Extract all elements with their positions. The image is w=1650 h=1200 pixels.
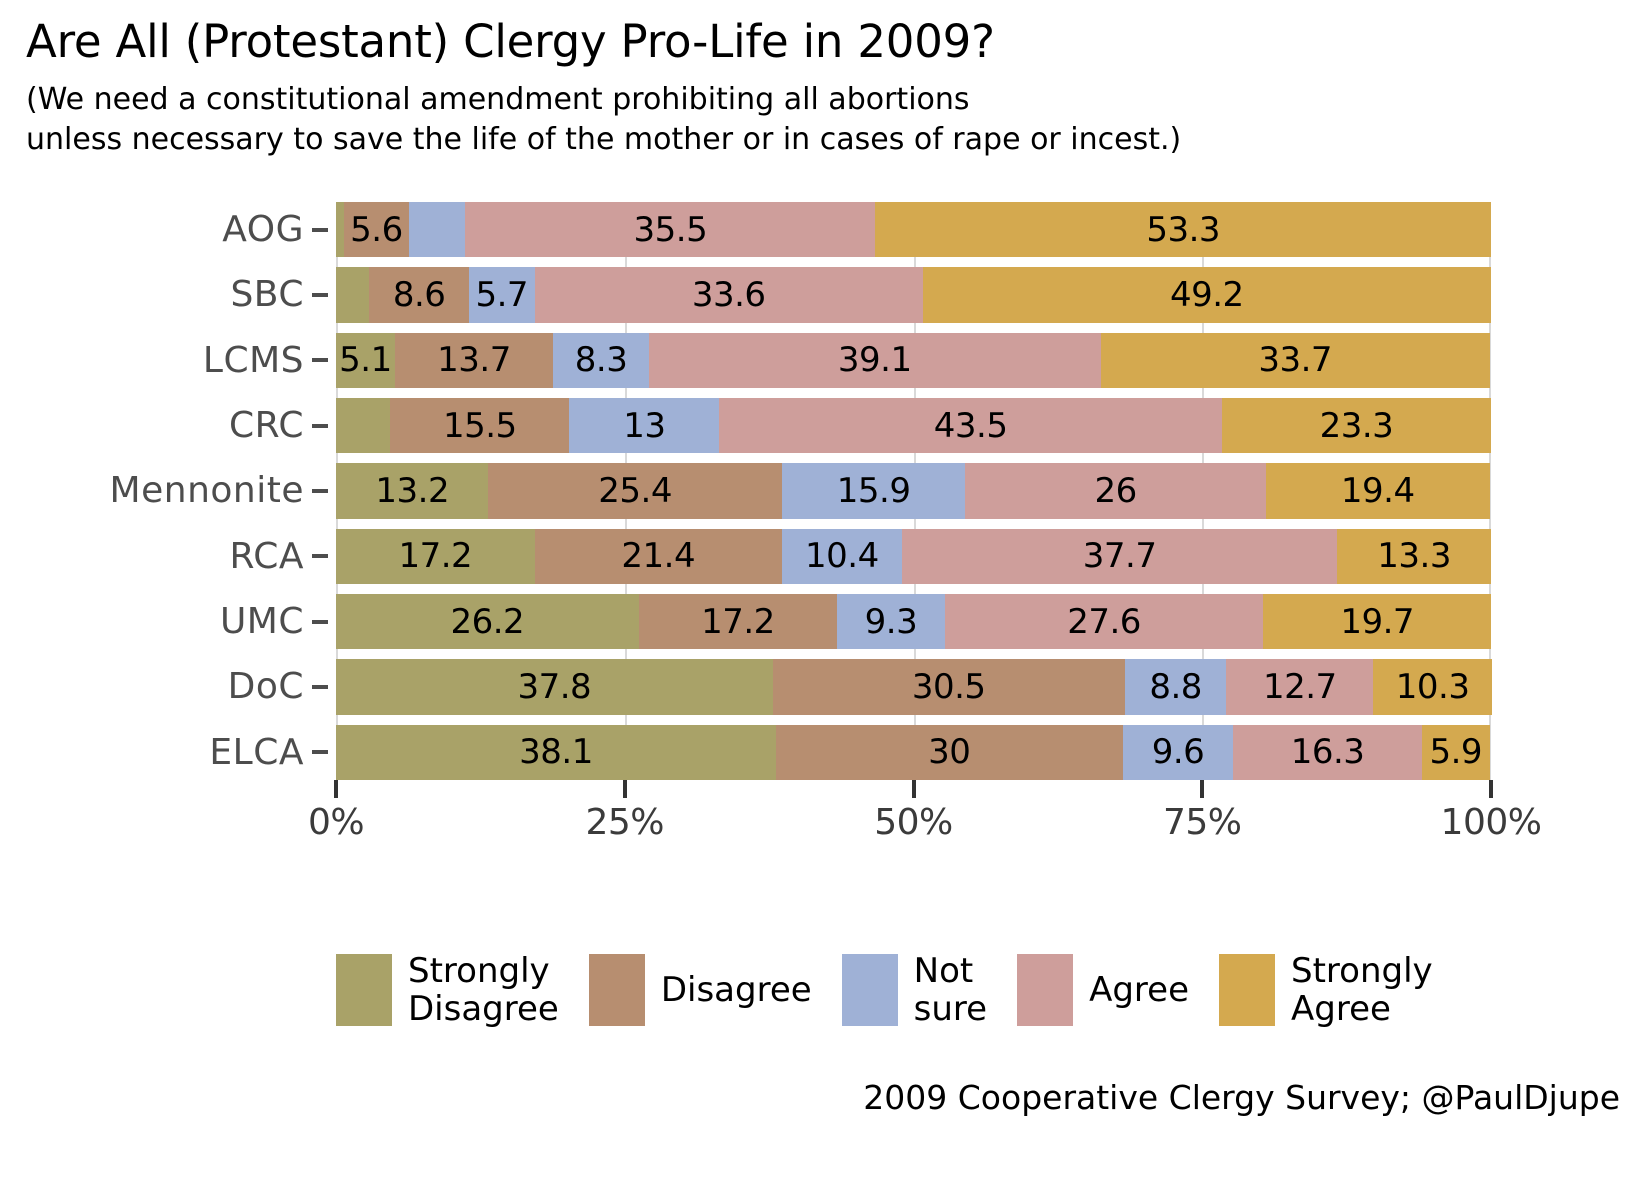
- y-tick-row: Mennonite: [0, 463, 336, 518]
- bar-segment: 30: [776, 725, 1123, 780]
- bar-segment-value: 26: [1094, 474, 1136, 508]
- bar-row: 37.830.58.812.710.3: [336, 659, 1491, 714]
- bar-segment-value: 10.4: [805, 539, 879, 573]
- bar-segment: 27.6: [945, 594, 1264, 649]
- y-axis: AOGSBCLCMSCRCMennoniteRCAUMCDoCELCA: [0, 202, 336, 780]
- legend-label: Notsure: [914, 952, 987, 1028]
- bar-segment-value: 13.7: [437, 343, 511, 377]
- y-tick-label-umc: UMC: [220, 601, 304, 642]
- bar-segment: 12.7: [1226, 659, 1373, 714]
- bar-row: 17.221.410.437.713.3: [336, 529, 1491, 584]
- legend-item-agree[interactable]: Agree: [1017, 954, 1189, 1026]
- legend-swatch-not-sure: [842, 954, 898, 1026]
- bar-row: 5.635.553.3: [336, 202, 1491, 257]
- legend-label-line-1: Not: [914, 952, 987, 990]
- y-tick-row: ELCA: [0, 725, 336, 780]
- legend-label-line-2: Disagree: [408, 990, 559, 1028]
- bar-segment: 25.4: [488, 463, 781, 518]
- legend-label: StronglyAgree: [1291, 952, 1433, 1028]
- x-tick-label-50: 50%: [874, 802, 953, 843]
- bar-segment: 13.3: [1337, 529, 1491, 584]
- bar-segment: 16.3: [1233, 725, 1421, 780]
- x-tick-mark-50: [912, 780, 916, 798]
- legend-item-strongly-agree[interactable]: StronglyAgree: [1219, 952, 1433, 1028]
- bar-segment: 13.7: [395, 333, 553, 388]
- y-tick-row: DoC: [0, 659, 336, 714]
- bar-row: 5.113.78.339.133.7: [336, 333, 1491, 388]
- bar-segment: 5.1: [336, 333, 395, 388]
- y-tick-label-crc: CRC: [229, 405, 304, 446]
- bar-segment: 53.3: [875, 202, 1491, 257]
- bar-segment-value: 37.8: [517, 670, 591, 704]
- y-tick-mark: [312, 228, 328, 232]
- bar-segment: 13.2: [336, 463, 488, 518]
- bar-segment: 39.1: [649, 333, 1101, 388]
- bar-segment: 10.3: [1373, 659, 1492, 714]
- bar-segment: 21.4: [535, 529, 782, 584]
- bar-segment-value: 9.6: [1152, 735, 1205, 769]
- y-tick-mark: [312, 358, 328, 362]
- bar-segment: 38.1: [336, 725, 776, 780]
- x-tick-label-25: 25%: [585, 802, 664, 843]
- legend-label-line-2: Agree: [1291, 990, 1433, 1028]
- bar-row: 13.225.415.92619.4: [336, 463, 1491, 518]
- bar-row: 8.65.733.649.2: [336, 267, 1491, 322]
- y-tick-mark: [312, 620, 328, 624]
- bar-segment: 8.8: [1125, 659, 1227, 714]
- bar-segment-value: 8.6: [393, 278, 446, 312]
- bar-segment-value: 8.8: [1149, 670, 1202, 704]
- y-tick-row: RCA: [0, 529, 336, 584]
- bar-segment-value: 33.7: [1258, 343, 1332, 377]
- bar-segment-value: 49.2: [1170, 278, 1244, 312]
- legend-swatch-disagree: [589, 954, 645, 1026]
- legend-label: StronglyDisagree: [408, 952, 559, 1028]
- legend-label-line-1: Strongly: [408, 952, 559, 990]
- y-tick-label-sbc: SBC: [230, 274, 304, 315]
- legend-label: Disagree: [661, 971, 812, 1009]
- chart-subtitle-line-2: unless necessary to save the life of the…: [26, 120, 1606, 160]
- bar-segment-value: 5.9: [1429, 735, 1482, 769]
- chart-title: Are All (Protestant) Clergy Pro-Life in …: [26, 14, 1606, 70]
- x-tick-mark-75: [1200, 780, 1204, 798]
- bar-segment-value: 38.1: [519, 735, 593, 769]
- bar-row: 26.217.29.327.619.7: [336, 594, 1491, 649]
- bar-segment-value: 33.6: [692, 278, 766, 312]
- bar-segment: 49.2: [923, 267, 1491, 322]
- bar-segment-value: 13.3: [1377, 539, 1451, 573]
- bar-segment: 5.6: [344, 202, 409, 257]
- bar-segment: 17.2: [336, 529, 535, 584]
- legend-label-line-2: sure: [914, 990, 987, 1028]
- bar-segment: 37.7: [902, 529, 1337, 584]
- bar-row: 38.1309.616.35.9: [336, 725, 1491, 780]
- bar-segment-value: 10.3: [1396, 670, 1470, 704]
- x-tick-mark-25: [623, 780, 627, 798]
- y-tick-mark: [312, 554, 328, 558]
- bar-segment: 35.5: [465, 202, 875, 257]
- bar-segment-value: 26.2: [450, 605, 524, 639]
- bar-segment: [336, 267, 369, 322]
- bar-segment-value: 5.6: [350, 213, 403, 247]
- y-tick-mark: [312, 293, 328, 297]
- bar-segment-value: 15.9: [837, 474, 911, 508]
- bar-segment: 17.2: [639, 594, 838, 649]
- bar-segment: 19.4: [1266, 463, 1490, 518]
- bar-segment: 5.9: [1422, 725, 1490, 780]
- y-tick-label-mennonite: Mennonite: [110, 470, 304, 511]
- chart-subtitle: (We need a constitutional amendment proh…: [26, 80, 1606, 160]
- bar-segment: [409, 202, 466, 257]
- chart-subtitle-line-1: (We need a constitutional amendment proh…: [26, 80, 1606, 120]
- bar-segment-value: 19.4: [1341, 474, 1415, 508]
- legend-item-not-sure[interactable]: Notsure: [842, 952, 987, 1028]
- bar-segment-value: 25.4: [598, 474, 672, 508]
- bar-row: 15.51343.523.3: [336, 398, 1491, 453]
- legend-swatch-strongly-disagree: [336, 954, 392, 1026]
- y-tick-label-aog: AOG: [222, 209, 304, 250]
- bar-segment: 9.6: [1123, 725, 1234, 780]
- bar-segment: 19.7: [1263, 594, 1491, 649]
- bar-segment: 15.5: [390, 398, 569, 453]
- x-axis: 0%25%50%75%100%: [336, 780, 1491, 850]
- bar-segment: 30.5: [773, 659, 1125, 714]
- bar-segment-value: 16.3: [1291, 735, 1365, 769]
- legend-label-line-1: Strongly: [1291, 952, 1433, 990]
- bar-segment-value: 19.7: [1340, 605, 1414, 639]
- bar-segment-value: 13.2: [375, 474, 449, 508]
- bar-segment: [336, 398, 390, 453]
- plot-area: 5.635.553.38.65.733.649.25.113.78.339.13…: [336, 202, 1491, 780]
- bar-segment-value: 39.1: [838, 343, 912, 377]
- bar-segment: 26.2: [336, 594, 639, 649]
- bar-segment: 26: [965, 463, 1265, 518]
- bar-segment: 10.4: [782, 529, 902, 584]
- bar-segment: 13: [569, 398, 719, 453]
- x-tick-mark-100: [1489, 780, 1493, 798]
- bar-segment: [336, 202, 344, 257]
- bar-segment-value: 13: [623, 409, 665, 443]
- legend-label-line-1: Disagree: [661, 971, 812, 1009]
- bar-segment-value: 23.3: [1320, 409, 1394, 443]
- y-tick-label-lcms: LCMS: [203, 340, 304, 381]
- y-tick-mark: [312, 489, 328, 493]
- bar-segment-value: 30.5: [912, 670, 986, 704]
- x-tick-mark-0: [334, 780, 338, 798]
- y-tick-label-elca: ELCA: [209, 732, 304, 773]
- bar-segment: 33.7: [1101, 333, 1490, 388]
- bar-segment: 9.3: [837, 594, 944, 649]
- x-tick-label-0: 0%: [308, 802, 364, 843]
- chart-legend: StronglyDisagreeDisagreeNotsureAgreeStro…: [336, 952, 1516, 1028]
- y-tick-mark: [312, 424, 328, 428]
- y-tick-mark: [312, 685, 328, 689]
- bar-segment: 37.8: [336, 659, 773, 714]
- bar-segment: 8.6: [369, 267, 468, 322]
- legend-swatch-agree: [1017, 954, 1073, 1026]
- bar-segment-value: 9.3: [865, 605, 918, 639]
- bar-segment-value: 35.5: [634, 213, 708, 247]
- x-tick-label-75: 75%: [1163, 802, 1242, 843]
- chart-credit: 2009 Cooperative Clergy Survey; @PaulDju…: [863, 1078, 1620, 1117]
- y-tick-row: UMC: [0, 594, 336, 649]
- y-tick-mark: [312, 750, 328, 754]
- y-tick-label-doc: DoC: [228, 666, 304, 707]
- bar-segment: 33.6: [535, 267, 923, 322]
- legend-label-line-1: Agree: [1089, 971, 1189, 1009]
- bar-segment-value: 37.7: [1083, 539, 1157, 573]
- stacked-bars: 5.635.553.38.65.733.649.25.113.78.339.13…: [336, 202, 1491, 780]
- bar-segment-value: 5.1: [339, 343, 392, 377]
- bar-segment-value: 17.2: [398, 539, 472, 573]
- y-tick-row: CRC: [0, 398, 336, 453]
- y-tick-row: AOG: [0, 202, 336, 257]
- bar-segment-value: 15.5: [443, 409, 517, 443]
- bar-segment-value: 30: [928, 735, 970, 769]
- title-block: Are All (Protestant) Clergy Pro-Life in …: [26, 14, 1606, 160]
- bar-segment-value: 17.2: [701, 605, 775, 639]
- legend-item-strongly-disagree[interactable]: StronglyDisagree: [336, 952, 559, 1028]
- legend-swatch-strongly-agree: [1219, 954, 1275, 1026]
- y-tick-row: SBC: [0, 267, 336, 322]
- bar-segment: 15.9: [782, 463, 966, 518]
- legend-item-disagree[interactable]: Disagree: [589, 954, 812, 1026]
- bar-segment-value: 43.5: [934, 409, 1008, 443]
- bar-segment-value: 21.4: [621, 539, 695, 573]
- x-tick-label-100: 100%: [1441, 802, 1542, 843]
- bar-segment-value: 5.7: [475, 278, 528, 312]
- bar-segment: 8.3: [553, 333, 649, 388]
- y-tick-row: LCMS: [0, 333, 336, 388]
- bar-segment: 23.3: [1222, 398, 1491, 453]
- chart-root: Are All (Protestant) Clergy Pro-Life in …: [0, 0, 1650, 1200]
- bar-segment-value: 8.3: [575, 343, 628, 377]
- y-tick-label-rca: RCA: [230, 536, 304, 577]
- bar-segment-value: 12.7: [1263, 670, 1337, 704]
- bar-segment-value: 27.6: [1067, 605, 1141, 639]
- bar-segment-value: 53.3: [1146, 213, 1220, 247]
- bar-segment: 5.7: [469, 267, 535, 322]
- bar-segment: 43.5: [719, 398, 1221, 453]
- legend-label: Agree: [1089, 971, 1189, 1009]
